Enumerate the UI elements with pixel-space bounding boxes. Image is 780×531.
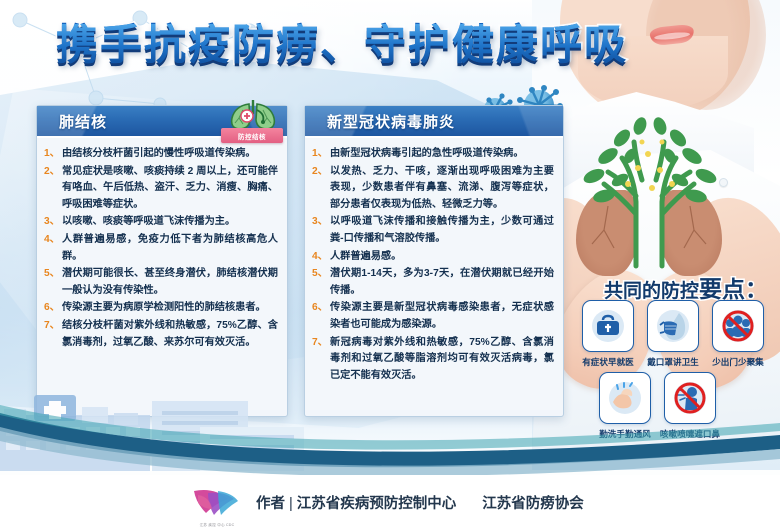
footer-separator: | bbox=[289, 496, 293, 512]
face-mask-icon bbox=[647, 300, 699, 352]
covid19-list: 由新型冠状病毒引起的急性呼吸道传染病。 以发热、乏力、干咳，逐渐出现呼吸困难为主… bbox=[313, 146, 554, 384]
footer-org-2: 江苏省防痨协会 bbox=[482, 496, 584, 512]
prevention-label: 有症状早就医 bbox=[582, 356, 634, 368]
panel-header-tuberculosis: 肺结核 防控结核 bbox=[37, 106, 287, 138]
list-item: 以发热、乏力、干咳，逐渐出现呼吸困难为主要表现，少数患者伴有鼻塞、流涕、腹泻等症… bbox=[313, 164, 554, 214]
prevention-label: 少出门少聚集 bbox=[712, 356, 764, 368]
list-item: 以咳嗽、咳痰等呼吸道飞沫传播为主。 bbox=[45, 214, 278, 231]
prevention-heading-small: 共同的防控 bbox=[604, 281, 699, 302]
footer: 江苏 疾控 中心 CDC 作者|江苏省疾病预防控制中心江苏省防痨协会 bbox=[0, 475, 780, 531]
mascot-ribbon: 防控结核 bbox=[221, 128, 283, 143]
no-crowd-icon bbox=[712, 300, 764, 352]
list-item: 人群普遍易感，免疫力低下者为肺结核高危人群。 bbox=[45, 232, 278, 265]
list-item: 传染源主要为病原学检测阳性的肺结核患者。 bbox=[45, 300, 278, 317]
list-item: 由结核分枝杆菌引起的慢性呼吸道传染病。 bbox=[45, 146, 278, 163]
panel-body-covid19: 由新型冠状病毒引起的急性呼吸道传染病。 以发热、乏力、干咳，逐渐出现呼吸困难为主… bbox=[305, 138, 563, 410]
list-item: 人群普遍易感。 bbox=[313, 249, 554, 266]
prevention-icons-row-1: 有症状早就医 戴口罩讲卫生 bbox=[580, 300, 766, 368]
mascot-ribbon-label: 防控结核 bbox=[238, 131, 266, 141]
panel-header-covid19: 新型冠状病毒肺炎 bbox=[305, 106, 563, 138]
panel-body-tuberculosis: 由结核分枝杆菌引起的慢性呼吸道传染病。 常见症状是咳嗽、咳痰持续 2 周以上，还… bbox=[37, 138, 287, 410]
footer-author-label: 作者 bbox=[256, 496, 285, 512]
page-title: 携手抗疫防痨、守护健康呼吸 bbox=[56, 24, 716, 66]
list-item: 新冠病毒对紫外线和热敏感，75%乙醇、含氯消毒剂和过氧乙酸等脂溶剂均可有效灭活病… bbox=[313, 335, 554, 385]
list-item: 潜伏期可能很长、甚至终身潜伏，肺结核潜伏期一般认为没有传染性。 bbox=[45, 266, 278, 299]
panel-covid19: 新型冠状病毒肺炎 由新型冠状病毒引起的急性呼吸道传染病。 以发热、乏力、干咳，逐… bbox=[304, 105, 564, 417]
fan-logo-icon bbox=[188, 485, 244, 519]
panel-tuberculosis: 肺结核 防控结核 bbox=[36, 105, 288, 417]
footer-credit: 作者|江苏省疾病预防控制中心江苏省防痨协会 bbox=[256, 492, 584, 513]
list-item: 常见症状是咳嗽、咳痰持续 2 周以上，还可能伴有咯血、午后低热、盗汗、乏力、消瘦… bbox=[45, 164, 278, 214]
prevention-item-avoid-crowds[interactable]: 少出门少聚集 bbox=[710, 300, 766, 368]
lungs-mascot-icon: 防控结核 bbox=[223, 94, 283, 150]
prevention-label: 戴口罩讲卫生 bbox=[647, 356, 699, 368]
list-item: 由新型冠状病毒引起的急性呼吸道传染病。 bbox=[313, 146, 554, 163]
prevention-item-see-doctor[interactable]: 有症状早就医 bbox=[580, 300, 636, 368]
list-item: 传染源主要是新型冠状病毒感染患者，无症状感染者也可能成为感染源。 bbox=[313, 300, 554, 333]
panel-title-tuberculosis: 肺结核 bbox=[59, 111, 107, 132]
prevention-heading: 共同的防控要点： bbox=[548, 270, 768, 304]
poster-canvas: 携手抗疫防痨、守护健康呼吸 携手抗疫防痨、守护健康呼吸 肺结核 bbox=[0, 0, 780, 531]
list-item: 潜伏期1-14天，多为3-7天，在潜伏期就已经开始传播。 bbox=[313, 266, 554, 299]
panel-title-covid19: 新型冠状病毒肺炎 bbox=[327, 111, 455, 132]
list-item: 以呼吸道飞沫传播和接触传播为主，少数可通过粪-口传播和气溶胶传播。 bbox=[313, 214, 554, 247]
list-item: 结核分枝杆菌对紫外线和热敏感，75%乙醇、含氯消毒剂，过氧乙酸、来苏尔可有效灭活… bbox=[45, 318, 278, 351]
logo-caption: 江苏 疾控 中心 CDC bbox=[186, 523, 248, 527]
prevention-heading-big: 要点： bbox=[699, 276, 768, 302]
footer-org-1: 江苏省疾病预防控制中心 bbox=[297, 496, 457, 512]
medical-bag-icon bbox=[582, 300, 634, 352]
tuberculosis-list: 由结核分枝杆菌引起的慢性呼吸道传染病。 常见症状是咳嗽、咳痰持续 2 周以上，还… bbox=[45, 146, 278, 351]
prevention-item-wear-mask[interactable]: 戴口罩讲卫生 bbox=[645, 300, 701, 368]
